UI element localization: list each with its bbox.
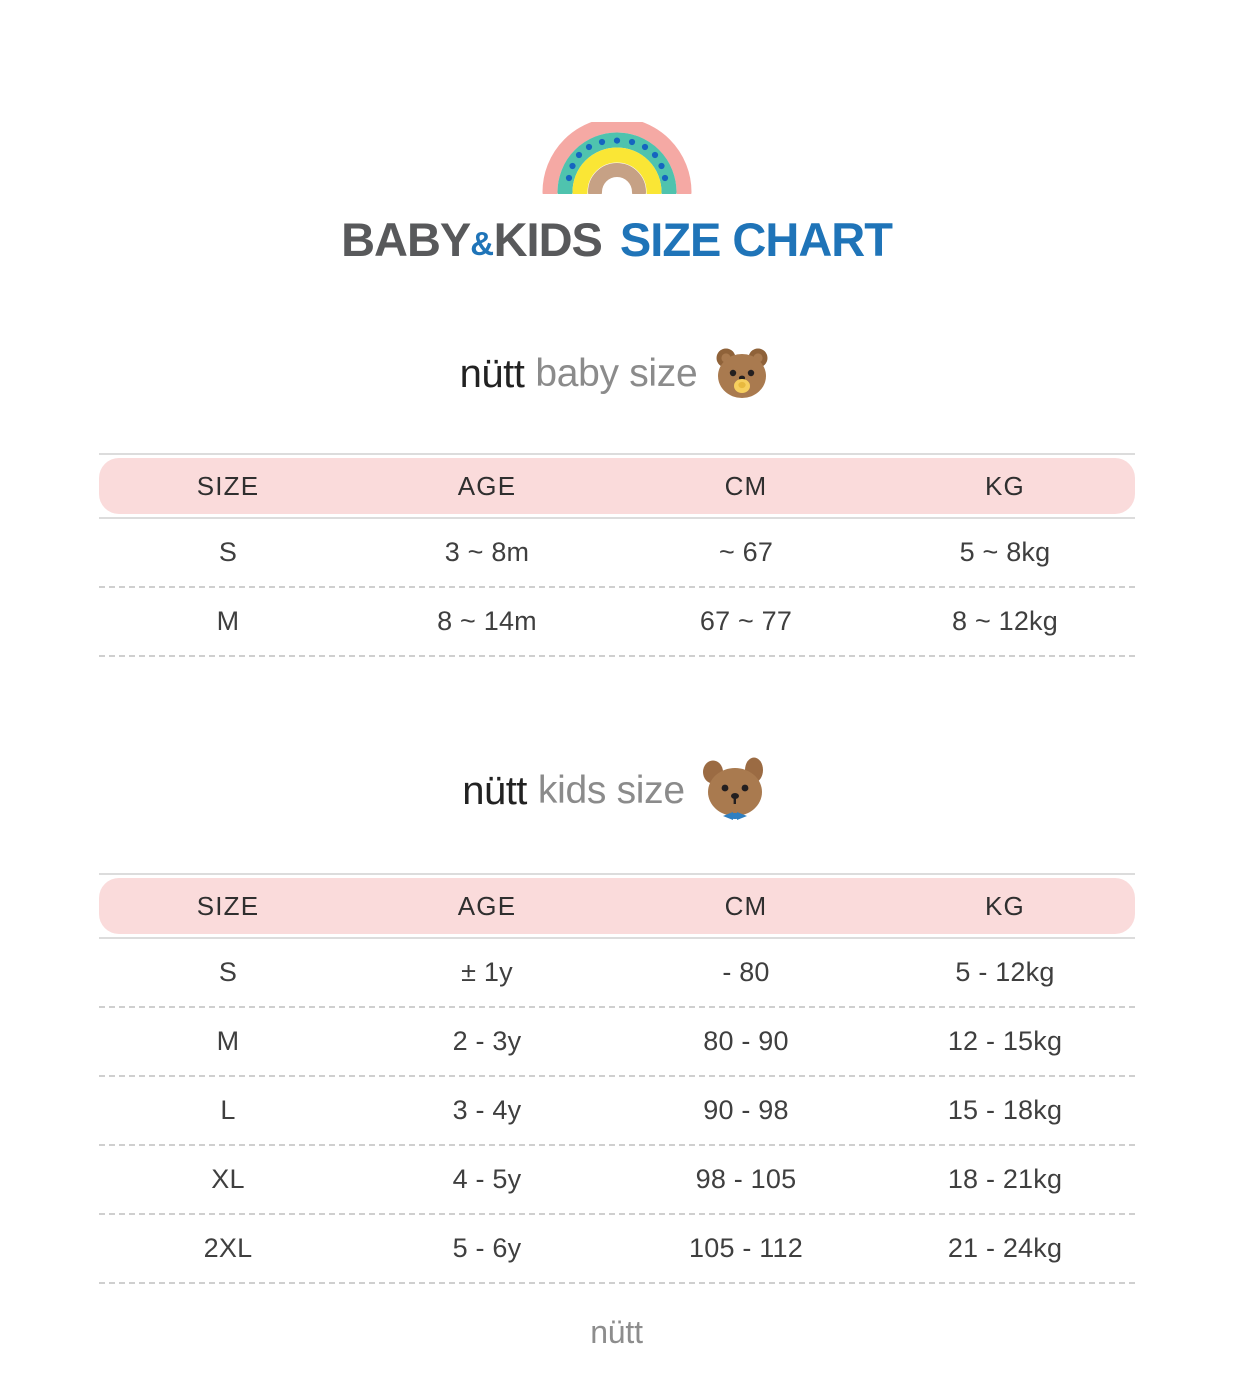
cell-age: 4 - 5y (358, 1164, 617, 1195)
baby-bear-icon-svg (711, 345, 773, 403)
cell-cm: 90 - 98 (617, 1095, 876, 1126)
cell-age: 5 - 6y (358, 1233, 617, 1264)
table-header-wrap: SIZE AGE CM KG (99, 875, 1135, 937)
cell-cm: 80 - 90 (617, 1026, 876, 1057)
table-row: M 8 ~ 14m 67 ~ 77 8 ~ 12kg (99, 588, 1135, 655)
cell-size: L (99, 1095, 358, 1126)
rainbow-icon (542, 122, 692, 194)
title-ampersand: & (470, 225, 493, 263)
cell-age: 2 - 3y (358, 1026, 617, 1057)
table-row: S ± 1y - 80 5 - 12kg (99, 939, 1135, 1006)
cell-size: 2XL (99, 1233, 358, 1264)
kids-bear-icon-svg (699, 757, 771, 825)
cell-kg: 5 - 12kg (876, 957, 1135, 988)
table-row: M 2 - 3y 80 - 90 12 - 15kg (99, 1008, 1135, 1075)
column-header-age: AGE (358, 471, 617, 502)
section-title-baby: nütt baby size (0, 345, 1233, 403)
cell-cm: ~ 67 (617, 537, 876, 568)
page-title: BABY & KIDS SIZE CHART (0, 212, 1233, 267)
cell-size: M (99, 606, 358, 637)
kids-size-table: SIZE AGE CM KG S ± 1y - 80 5 - 12kg M 2 … (99, 873, 1135, 1284)
title-baby: BABY (341, 212, 470, 267)
column-header-kg: KG (876, 471, 1135, 502)
cell-size: S (99, 537, 358, 568)
page-footer: nütt (0, 1314, 1233, 1351)
column-header-size: SIZE (99, 891, 358, 922)
cell-age: ± 1y (358, 957, 617, 988)
cell-size: XL (99, 1164, 358, 1195)
title-size-chart: SIZE CHART (620, 212, 892, 267)
row-divider (99, 1282, 1135, 1284)
column-header-size: SIZE (99, 471, 358, 502)
section-label-kids: kids size (538, 769, 685, 813)
row-divider (99, 655, 1135, 657)
title-kids: KIDS (494, 212, 602, 267)
brand-mark-baby: nütt (460, 352, 525, 397)
column-header-cm: CM (617, 891, 876, 922)
kids-bear-icon (699, 757, 771, 825)
section-label-baby: baby size (535, 352, 697, 396)
baby-bear-icon (711, 345, 773, 403)
cell-cm: 98 - 105 (617, 1164, 876, 1195)
cell-kg: 18 - 21kg (876, 1164, 1135, 1195)
cell-age: 8 ~ 14m (358, 606, 617, 637)
table-row: L 3 - 4y 90 - 98 15 - 18kg (99, 1077, 1135, 1144)
cell-size: S (99, 957, 358, 988)
cell-kg: 21 - 24kg (876, 1233, 1135, 1264)
cell-age: 3 - 4y (358, 1095, 617, 1126)
column-header-cm: CM (617, 471, 876, 502)
table-header-wrap: SIZE AGE CM KG (99, 455, 1135, 517)
cell-cm: 105 - 112 (617, 1233, 876, 1264)
rainbow-icon-wrap (0, 122, 1233, 194)
page-header: BABY & KIDS SIZE CHART (0, 0, 1233, 267)
cell-kg: 8 ~ 12kg (876, 606, 1135, 637)
footer-brand-mark: nütt (590, 1314, 643, 1350)
brand-mark-kids: nütt (462, 769, 527, 814)
cell-kg: 15 - 18kg (876, 1095, 1135, 1126)
table-header-row: SIZE AGE CM KG (99, 458, 1135, 514)
cell-cm: 67 ~ 77 (617, 606, 876, 637)
cell-size: M (99, 1026, 358, 1057)
table-row: XL 4 - 5y 98 - 105 18 - 21kg (99, 1146, 1135, 1213)
cell-age: 3 ~ 8m (358, 537, 617, 568)
column-header-kg: KG (876, 891, 1135, 922)
cell-kg: 5 ~ 8kg (876, 537, 1135, 568)
cell-kg: 12 - 15kg (876, 1026, 1135, 1057)
baby-size-table: SIZE AGE CM KG S 3 ~ 8m ~ 67 5 ~ 8kg M 8… (99, 453, 1135, 657)
table-row: S 3 ~ 8m ~ 67 5 ~ 8kg (99, 519, 1135, 586)
table-header-row: SIZE AGE CM KG (99, 878, 1135, 934)
section-title-kids: nütt kids size (0, 757, 1233, 825)
column-header-age: AGE (358, 891, 617, 922)
table-row: 2XL 5 - 6y 105 - 112 21 - 24kg (99, 1215, 1135, 1282)
size-chart-page: BABY & KIDS SIZE CHART nütt baby size (0, 0, 1233, 1376)
cell-cm: - 80 (617, 957, 876, 988)
